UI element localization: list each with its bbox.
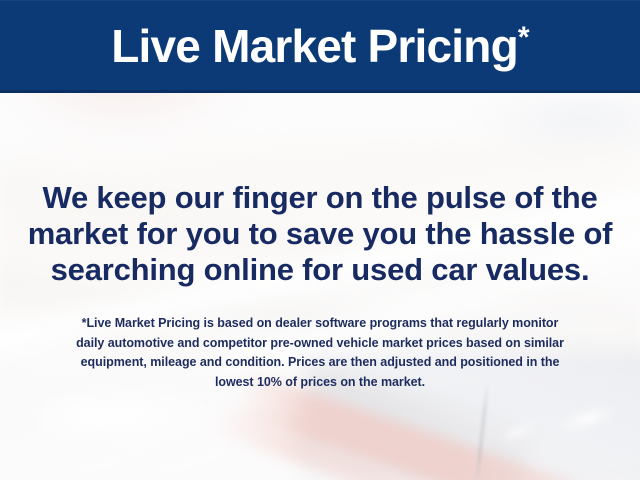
footnote-line-4: lowest 10% of prices on the market. xyxy=(30,373,610,393)
footnote-block: *Live Market Pricing is based on dealer … xyxy=(0,314,640,392)
header-banner: Live Market Pricing* xyxy=(0,0,640,93)
footnote-line-1: *Live Market Pricing is based on dealer … xyxy=(30,314,610,334)
headline-block: We keep our finger on the pulse of the m… xyxy=(0,180,640,288)
footnote-line-2: daily automotive and competitor pre-owne… xyxy=(30,334,610,354)
footnote-line-3: equipment, mileage and condition. Prices… xyxy=(30,353,610,373)
headline-line-2: market for you to save you the hassle of xyxy=(0,216,640,252)
card-content: We keep our finger on the pulse of the m… xyxy=(0,93,640,480)
page-title: Live Market Pricing* xyxy=(111,23,529,69)
page-title-text: Live Market Pricing xyxy=(111,20,518,72)
live-market-pricing-card: Live Market Pricing* We keep our finger … xyxy=(0,0,640,480)
page-title-asterisk: * xyxy=(518,21,529,54)
headline-line-1: We keep our finger on the pulse of the xyxy=(0,180,640,216)
headline-line-3: searching online for used car values. xyxy=(0,252,640,288)
